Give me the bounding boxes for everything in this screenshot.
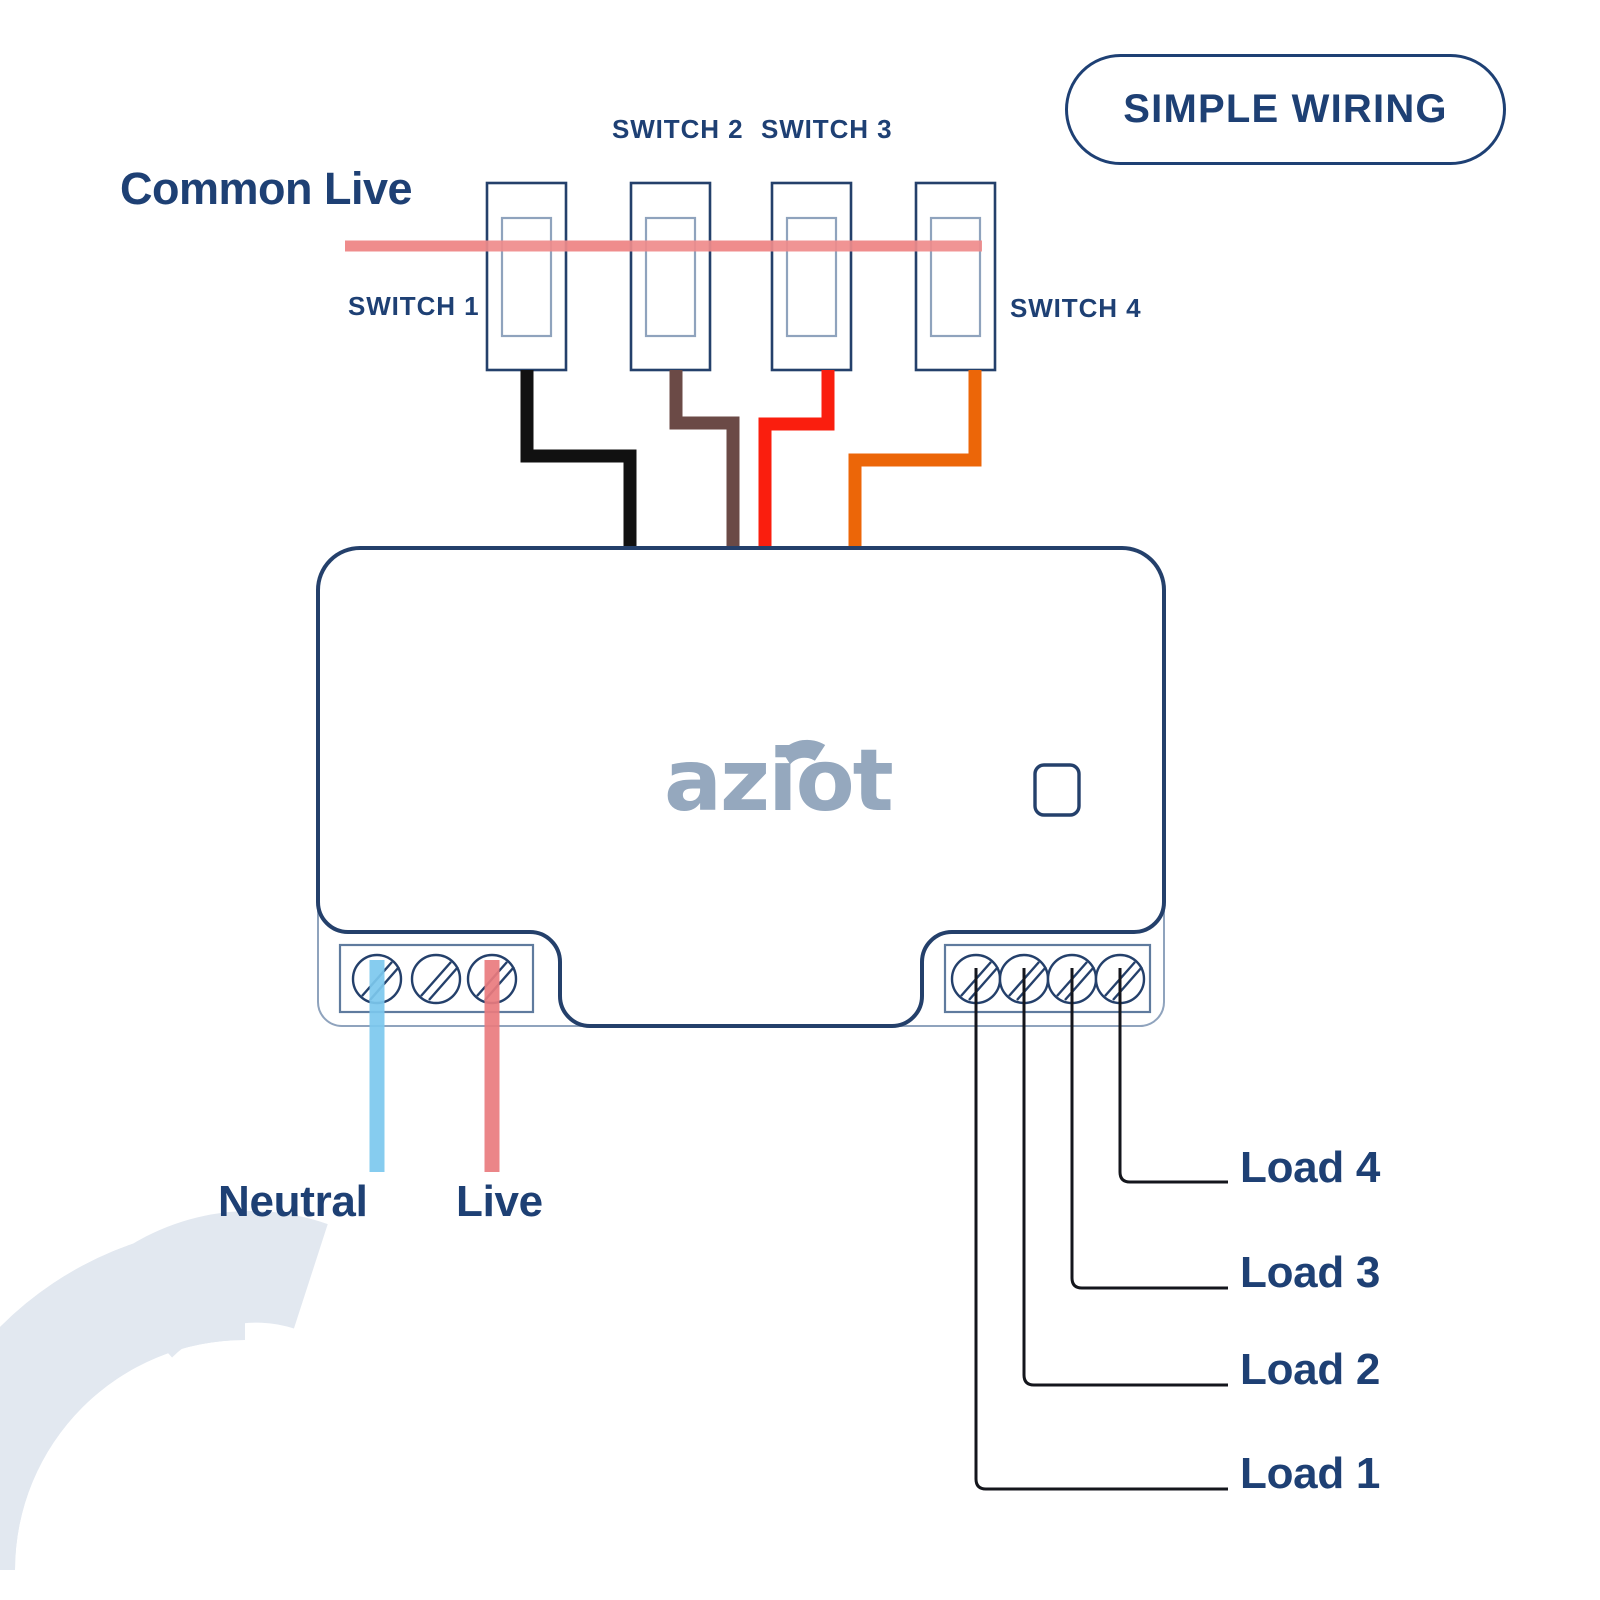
simple-wiring-badge: SIMPLE WIRING — [1065, 54, 1506, 165]
switch-4-wire — [855, 370, 975, 548]
switch-4-label: SWITCH 4 — [1010, 293, 1141, 324]
switch-plate-3[interactable] — [772, 183, 851, 370]
svg-text:aziot: aziot — [664, 731, 893, 831]
switch-plate-2[interactable] — [631, 183, 710, 370]
switch-plate-4[interactable] — [916, 183, 995, 370]
switch-3-label: SWITCH 3 — [761, 114, 892, 145]
switch-2-label: SWITCH 2 — [612, 114, 743, 145]
aziot-logo: aziot — [664, 731, 893, 831]
neutral-label: Neutral — [218, 1177, 368, 1227]
common-live-label: Common Live — [120, 163, 412, 215]
live-label: Live — [456, 1177, 543, 1227]
wiring-diagram-page: aziot SIMPLE WIRING Common Live SWITCH 1… — [0, 0, 1600, 1600]
load-1-label: Load 1 — [1240, 1449, 1380, 1499]
terminal-block-input[interactable] — [340, 945, 533, 1012]
switch-1-wire — [527, 370, 630, 548]
screw-terminal-unused[interactable] — [412, 955, 460, 1003]
module-pair-button[interactable] — [1035, 765, 1079, 815]
load-2-wire — [1024, 968, 1228, 1385]
load-1-wire — [976, 968, 1228, 1489]
switch-2-wire — [676, 370, 733, 548]
switch-3-wire — [765, 370, 828, 548]
load-4-label: Load 4 — [1240, 1143, 1380, 1193]
switch-1-label: SWITCH 1 — [348, 291, 479, 322]
switch-plate-1[interactable] — [487, 183, 566, 370]
load-3-label: Load 3 — [1240, 1248, 1380, 1298]
load-2-label: Load 2 — [1240, 1345, 1380, 1395]
